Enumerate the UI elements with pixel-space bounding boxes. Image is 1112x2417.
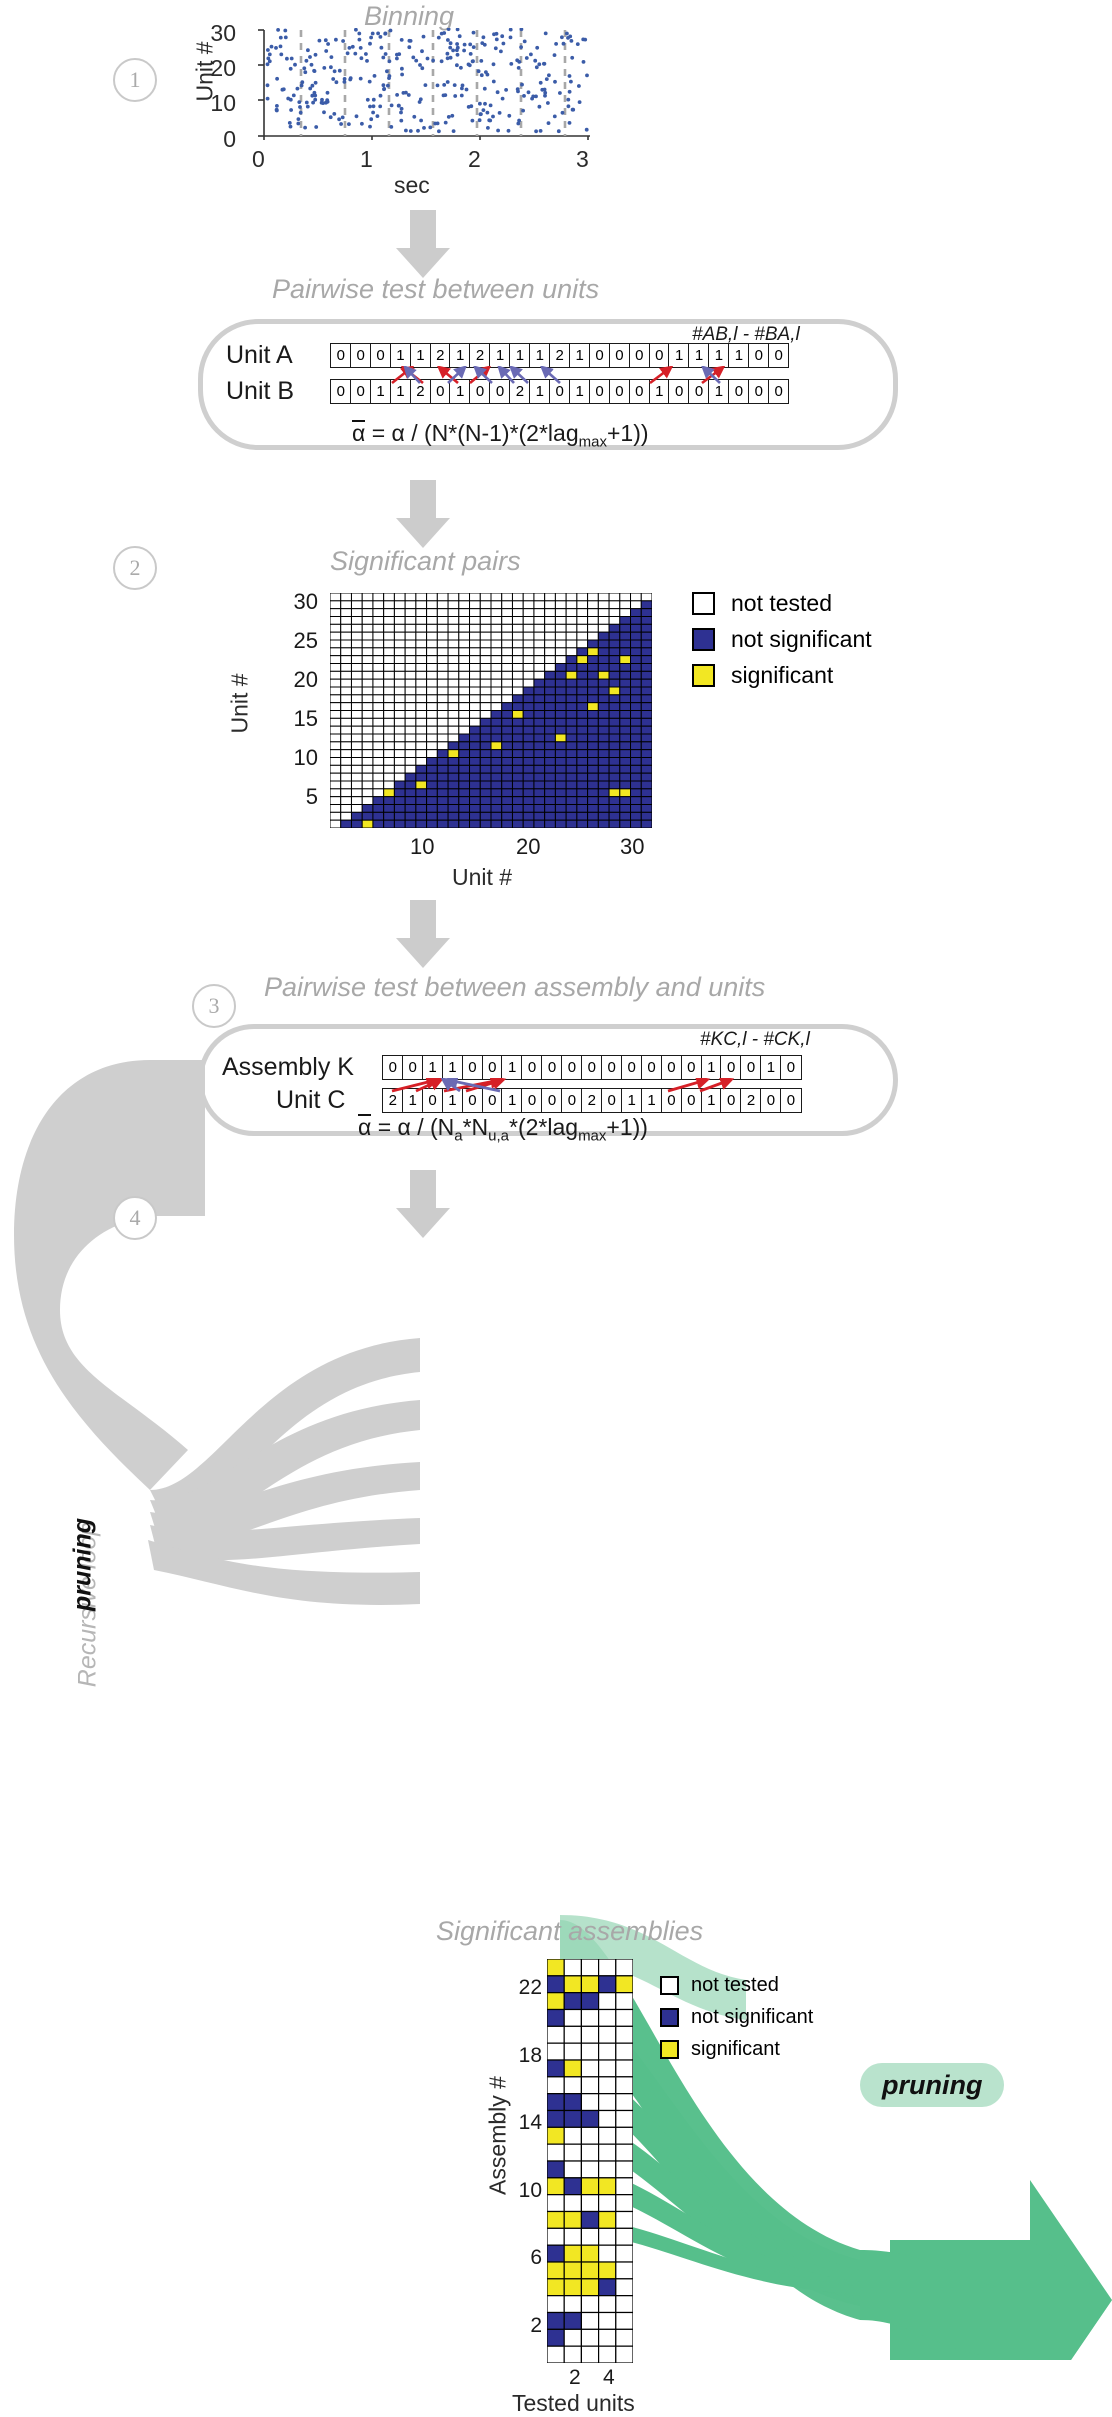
pairs-cell bbox=[631, 734, 642, 742]
pairs-cell bbox=[394, 718, 405, 726]
pairs-cell bbox=[641, 687, 652, 695]
asm-cell bbox=[547, 2094, 564, 2111]
pairs-cell bbox=[491, 820, 502, 828]
bit-cell: 0 bbox=[649, 343, 671, 368]
pairs-cell bbox=[405, 671, 416, 679]
pairs-cell bbox=[631, 742, 642, 750]
asm-cell bbox=[616, 2178, 633, 2195]
pairs-cell bbox=[555, 656, 566, 664]
pairs-cell bbox=[631, 812, 642, 820]
pairs-cell bbox=[437, 664, 448, 672]
pairs-cell bbox=[394, 687, 405, 695]
pairs-cell bbox=[598, 679, 609, 687]
pairs-cell bbox=[416, 781, 427, 789]
pairs-cell bbox=[405, 687, 416, 695]
pairs-cell bbox=[384, 726, 395, 734]
pairs-cell bbox=[373, 812, 384, 820]
pairs-cell bbox=[362, 648, 373, 656]
pairs-cell bbox=[512, 703, 523, 711]
pairs-cell bbox=[512, 695, 523, 703]
pairs-cell bbox=[341, 820, 352, 828]
pairs-cell bbox=[480, 742, 491, 750]
pairs-cell bbox=[523, 781, 534, 789]
pairs-cell bbox=[620, 773, 631, 781]
pairs-cell bbox=[588, 703, 599, 711]
pairs-cell bbox=[362, 671, 373, 679]
pairs-cell bbox=[373, 718, 384, 726]
pairs-cell bbox=[341, 703, 352, 711]
pairs-cell bbox=[448, 789, 459, 797]
pairs-cell bbox=[502, 812, 513, 820]
pairs-cell bbox=[502, 617, 513, 625]
pairs-cell bbox=[523, 742, 534, 750]
pairs-cell bbox=[384, 593, 395, 601]
raster-ytick-20: 20 bbox=[196, 55, 236, 82]
pairs-cell bbox=[631, 797, 642, 805]
asm-ytick-22: 22 bbox=[510, 1976, 542, 2000]
pairs-cell bbox=[545, 718, 556, 726]
pairs-cell bbox=[534, 664, 545, 672]
pairs-cell bbox=[491, 593, 502, 601]
asm-cell bbox=[564, 2111, 581, 2128]
pairs-cell bbox=[555, 679, 566, 687]
pairs-cell bbox=[373, 687, 384, 695]
bit-cell: 1 bbox=[509, 343, 531, 368]
pairs-cell bbox=[534, 695, 545, 703]
asm-legend-label-significant: significant bbox=[691, 2038, 780, 2061]
pairs-cell bbox=[459, 617, 470, 625]
pairs-cell bbox=[416, 617, 427, 625]
pairs-cell bbox=[351, 797, 362, 805]
step3-title: Pairwise test between assembly and units bbox=[264, 972, 765, 1003]
pairs-cell bbox=[330, 679, 341, 687]
pairs-cell bbox=[491, 640, 502, 648]
pairs-cell bbox=[588, 656, 599, 664]
pairs-cell bbox=[545, 789, 556, 797]
pairs-cell bbox=[394, 617, 405, 625]
pairs-cell bbox=[448, 609, 459, 617]
pairs-cell bbox=[491, 726, 502, 734]
legend-item-significant: significant bbox=[692, 662, 872, 689]
pairs-cell bbox=[341, 765, 352, 773]
pairs-cell bbox=[555, 718, 566, 726]
asm-cell bbox=[564, 2279, 581, 2296]
pairs-cell bbox=[437, 703, 448, 711]
pairs-cell bbox=[631, 703, 642, 711]
pairs-cell bbox=[598, 758, 609, 766]
asm-cell bbox=[616, 2228, 633, 2245]
pairs-cell bbox=[620, 703, 631, 711]
pairs-cell bbox=[609, 632, 620, 640]
bit-cell: 0 bbox=[521, 1055, 543, 1080]
pairs-cell bbox=[577, 726, 588, 734]
pairs-cell bbox=[341, 750, 352, 758]
pairs-cell bbox=[427, 695, 438, 703]
asm-cell bbox=[616, 1959, 633, 1976]
pairs-cell bbox=[631, 671, 642, 679]
pairs-cell bbox=[362, 734, 373, 742]
pairs-cell bbox=[609, 664, 620, 672]
pairs-cell bbox=[631, 640, 642, 648]
pairs-cell bbox=[641, 703, 652, 711]
pairs-cell bbox=[470, 789, 481, 797]
pairs-ytick-15: 15 bbox=[276, 706, 318, 732]
pairs-cell bbox=[631, 593, 642, 601]
pairs-cell bbox=[534, 679, 545, 687]
pairs-cell bbox=[641, 758, 652, 766]
pairs-cell bbox=[523, 750, 534, 758]
pruning-left-label: pruning bbox=[69, 1490, 98, 1640]
pairs-cell bbox=[416, 648, 427, 656]
pairs-cell bbox=[470, 601, 481, 609]
pairs-cell bbox=[480, 671, 491, 679]
pairs-cell bbox=[416, 632, 427, 640]
pairs-cell bbox=[577, 664, 588, 672]
pairs-cell bbox=[491, 718, 502, 726]
pairs-cell bbox=[641, 812, 652, 820]
pairs-cell bbox=[330, 624, 341, 632]
asm-cell bbox=[547, 2026, 564, 2043]
pairs-cell bbox=[609, 617, 620, 625]
pairs-cell bbox=[341, 695, 352, 703]
pairs-cell bbox=[620, 664, 631, 672]
asm-cell bbox=[616, 2195, 633, 2212]
pairs-cell bbox=[416, 773, 427, 781]
asm-cell bbox=[581, 2195, 598, 2212]
asm-legend-item-significant: significant bbox=[660, 2038, 813, 2061]
pairs-cell bbox=[491, 781, 502, 789]
pairs-cell bbox=[631, 648, 642, 656]
pairs-cell bbox=[341, 711, 352, 719]
pairs-cell bbox=[545, 742, 556, 750]
pairs-cell bbox=[641, 726, 652, 734]
pairs-cell bbox=[362, 664, 373, 672]
pairs-cell bbox=[470, 593, 481, 601]
pairs-xtick-10: 10 bbox=[410, 834, 434, 860]
pairs-cell bbox=[384, 781, 395, 789]
pairs-cell bbox=[566, 750, 577, 758]
pairs-cell bbox=[394, 632, 405, 640]
pairs-cell bbox=[416, 805, 427, 813]
pairs-cell bbox=[523, 601, 534, 609]
asm-cell bbox=[616, 2313, 633, 2330]
asm-cell bbox=[581, 2043, 598, 2060]
pairs-cell bbox=[330, 812, 341, 820]
pairs-cell bbox=[341, 656, 352, 664]
pairs-cell bbox=[598, 624, 609, 632]
pairs-cell bbox=[545, 711, 556, 719]
pairs-cell bbox=[577, 695, 588, 703]
pairs-cell bbox=[555, 593, 566, 601]
asm-ytick-6: 6 bbox=[510, 2246, 542, 2270]
pairs-cell bbox=[405, 781, 416, 789]
pairs-cell bbox=[470, 609, 481, 617]
bit-cell: 1 bbox=[701, 1055, 723, 1080]
pairs-cell bbox=[545, 734, 556, 742]
pairs-cell bbox=[577, 773, 588, 781]
pairs-cell bbox=[577, 711, 588, 719]
pairs-cell bbox=[470, 726, 481, 734]
asm-cell bbox=[581, 2212, 598, 2229]
pairs-cell bbox=[545, 632, 556, 640]
pairs-cell bbox=[512, 664, 523, 672]
pairs-cell bbox=[545, 648, 556, 656]
pairs-cell bbox=[566, 718, 577, 726]
pairs-cell bbox=[631, 664, 642, 672]
pairs-cell bbox=[330, 609, 341, 617]
pairs-cell bbox=[330, 632, 341, 640]
pairs-cell bbox=[384, 718, 395, 726]
pairs-cell bbox=[566, 711, 577, 719]
pairs-cell bbox=[416, 695, 427, 703]
pairs-cell bbox=[394, 773, 405, 781]
pairs-cell bbox=[577, 789, 588, 797]
pairs-cell bbox=[416, 789, 427, 797]
pairs-cell bbox=[351, 640, 362, 648]
bit-cell: 1 bbox=[569, 343, 591, 368]
pairs-cell bbox=[641, 671, 652, 679]
pairs-cell bbox=[598, 695, 609, 703]
pairs-cell bbox=[427, 726, 438, 734]
pairs-cell bbox=[394, 797, 405, 805]
asm-xtick-2: 2 bbox=[569, 2366, 581, 2390]
pairs-cell bbox=[437, 695, 448, 703]
asm-cell bbox=[616, 2043, 633, 2060]
pairs-cell bbox=[427, 648, 438, 656]
raster-ytick-30: 30 bbox=[196, 20, 236, 47]
step2-hash-label: #AB,l - #BA,l bbox=[692, 324, 800, 346]
pairs-cell bbox=[448, 703, 459, 711]
pairs-cell bbox=[427, 671, 438, 679]
pairs-cell bbox=[545, 601, 556, 609]
pairs-cell bbox=[373, 797, 384, 805]
pairs-cell bbox=[577, 734, 588, 742]
pairs-cell bbox=[491, 624, 502, 632]
asm-cell bbox=[616, 2094, 633, 2111]
asm-cell bbox=[616, 2296, 633, 2313]
pairs-cell bbox=[437, 758, 448, 766]
pairs-cell bbox=[609, 601, 620, 609]
pairs-cell bbox=[566, 781, 577, 789]
pairs-cell bbox=[566, 679, 577, 687]
pairs-cell bbox=[384, 820, 395, 828]
bit-cell: 1 bbox=[449, 343, 471, 368]
pairs-cell bbox=[620, 656, 631, 664]
pairs-cell bbox=[480, 797, 491, 805]
pairs-cell bbox=[512, 758, 523, 766]
pairs-cell bbox=[566, 765, 577, 773]
pairs-cell bbox=[512, 648, 523, 656]
pairs-cell bbox=[373, 773, 384, 781]
pairs-cell bbox=[384, 671, 395, 679]
pairs-cell bbox=[394, 695, 405, 703]
pairs-cell bbox=[631, 679, 642, 687]
pairs-cell bbox=[609, 703, 620, 711]
pairs-cell bbox=[405, 812, 416, 820]
pairs-cell bbox=[641, 820, 652, 828]
pairs-cell bbox=[405, 758, 416, 766]
pairs-cell bbox=[491, 671, 502, 679]
pairs-cell bbox=[470, 664, 481, 672]
pairs-cell bbox=[362, 797, 373, 805]
pairs-cell bbox=[555, 820, 566, 828]
pairs-cell bbox=[577, 593, 588, 601]
pairs-cell bbox=[459, 624, 470, 632]
pairs-cell bbox=[480, 750, 491, 758]
pairs-cell bbox=[534, 742, 545, 750]
step2b-title: Significant pairs bbox=[330, 546, 521, 577]
pairs-cell bbox=[512, 789, 523, 797]
pairs-cell bbox=[588, 617, 599, 625]
pairs-cell bbox=[598, 734, 609, 742]
step3-hash-label: #KC,l - #CK,l bbox=[700, 1029, 810, 1051]
asm-cell bbox=[599, 1976, 616, 1993]
asm-cell bbox=[581, 2296, 598, 2313]
pairs-cell bbox=[437, 820, 448, 828]
pairs-cell bbox=[609, 671, 620, 679]
pairs-cell bbox=[373, 617, 384, 625]
pairs-cell bbox=[470, 820, 481, 828]
pairs-cell bbox=[405, 742, 416, 750]
pairs-cell bbox=[512, 671, 523, 679]
asm-cell bbox=[616, 2026, 633, 2043]
pairs-cell bbox=[437, 640, 448, 648]
asm-cell bbox=[547, 1976, 564, 1993]
pairs-cell bbox=[427, 742, 438, 750]
pairs-cell bbox=[566, 656, 577, 664]
pairs-cell bbox=[405, 640, 416, 648]
pairs-cell bbox=[384, 648, 395, 656]
pairs-cell bbox=[341, 593, 352, 601]
pairs-cell bbox=[330, 734, 341, 742]
pairs-cell bbox=[459, 711, 470, 719]
pairs-cell bbox=[523, 703, 534, 711]
pairs-cell bbox=[491, 601, 502, 609]
pairs-cell bbox=[609, 711, 620, 719]
pairs-cell bbox=[641, 797, 652, 805]
pairs-cell bbox=[427, 609, 438, 617]
pairs-cell bbox=[384, 687, 395, 695]
pairs-cell bbox=[523, 711, 534, 719]
pairs-cell bbox=[641, 609, 652, 617]
pairs-cell bbox=[588, 695, 599, 703]
pairs-cell bbox=[437, 711, 448, 719]
pairs-cell bbox=[470, 797, 481, 805]
pairs-cell bbox=[534, 703, 545, 711]
pruning-output-flow bbox=[560, 1820, 1112, 2360]
bit-cell: 0 bbox=[621, 1055, 643, 1080]
pairs-cell bbox=[384, 797, 395, 805]
pairs-cell bbox=[437, 656, 448, 664]
pairs-cell bbox=[351, 750, 362, 758]
bit-cell: 0 bbox=[462, 1055, 484, 1080]
pairs-cell bbox=[351, 703, 362, 711]
asm-cell bbox=[564, 2346, 581, 2363]
pairs-cell bbox=[555, 781, 566, 789]
pairs-cell bbox=[555, 640, 566, 648]
pairs-cell bbox=[631, 624, 642, 632]
pairs-cell bbox=[491, 664, 502, 672]
asm-cell bbox=[564, 2127, 581, 2144]
pairs-cell bbox=[512, 805, 523, 813]
pairs-cell bbox=[341, 624, 352, 632]
pairs-cell bbox=[609, 624, 620, 632]
pairs-cell bbox=[459, 773, 470, 781]
pairs-cell bbox=[351, 805, 362, 813]
pairs-cell bbox=[631, 617, 642, 625]
pairs-cell bbox=[566, 624, 577, 632]
pairs-cell bbox=[427, 750, 438, 758]
pairs-cell bbox=[351, 765, 362, 773]
pairs-cell bbox=[609, 687, 620, 695]
asm-cell bbox=[581, 1993, 598, 2010]
pairs-cell bbox=[577, 679, 588, 687]
pairs-cell bbox=[459, 609, 470, 617]
pairs-cell bbox=[523, 820, 534, 828]
pairs-cell bbox=[470, 648, 481, 656]
asm-cell bbox=[599, 2144, 616, 2161]
pairs-cell bbox=[480, 601, 491, 609]
step2-lag-arrows bbox=[330, 366, 830, 386]
pairs-cell bbox=[437, 750, 448, 758]
pairs-cell bbox=[416, 765, 427, 773]
pairs-cell bbox=[351, 648, 362, 656]
asm-cell bbox=[599, 1993, 616, 2010]
pairs-cell bbox=[566, 609, 577, 617]
pairs-cell bbox=[405, 711, 416, 719]
pairs-cell bbox=[491, 687, 502, 695]
pairs-cell bbox=[577, 781, 588, 789]
pairs-cell bbox=[470, 679, 481, 687]
bit-cell: 0 bbox=[482, 1055, 504, 1080]
pairs-cell bbox=[459, 671, 470, 679]
spike-dots bbox=[266, 28, 589, 133]
step-badge-3: 3 bbox=[192, 984, 236, 1028]
pairs-cell bbox=[437, 609, 448, 617]
pairs-cell bbox=[641, 773, 652, 781]
pairs-cell bbox=[416, 679, 427, 687]
pairs-cell bbox=[555, 797, 566, 805]
pairs-cell bbox=[577, 671, 588, 679]
pairs-cell bbox=[394, 742, 405, 750]
pairs-cell bbox=[620, 609, 631, 617]
pairs-cell bbox=[631, 765, 642, 773]
pairs-cell bbox=[588, 726, 599, 734]
pairs-cell bbox=[448, 664, 459, 672]
pairs-cell bbox=[470, 695, 481, 703]
pairs-cell bbox=[555, 664, 566, 672]
bit-cell: 1 bbox=[422, 1055, 444, 1080]
pairs-cell bbox=[330, 718, 341, 726]
bit-cell: 2 bbox=[430, 343, 452, 368]
pairs-cell bbox=[641, 679, 652, 687]
pairs-cell bbox=[416, 797, 427, 805]
asm-cell bbox=[616, 2010, 633, 2027]
pairs-cell bbox=[502, 797, 513, 805]
asm-cell bbox=[581, 2178, 598, 2195]
pruning-right-label: pruning bbox=[860, 2063, 1004, 2107]
bit-cell: 1 bbox=[668, 343, 690, 368]
pairs-cell bbox=[351, 773, 362, 781]
pairs-cell bbox=[351, 609, 362, 617]
asm-cell bbox=[581, 1959, 598, 1976]
pairs-cell bbox=[620, 593, 631, 601]
pairs-cell bbox=[459, 742, 470, 750]
asm-cell bbox=[616, 2060, 633, 2077]
pairs-cell bbox=[437, 781, 448, 789]
pairs-cell bbox=[362, 718, 373, 726]
pairs-cell bbox=[512, 718, 523, 726]
